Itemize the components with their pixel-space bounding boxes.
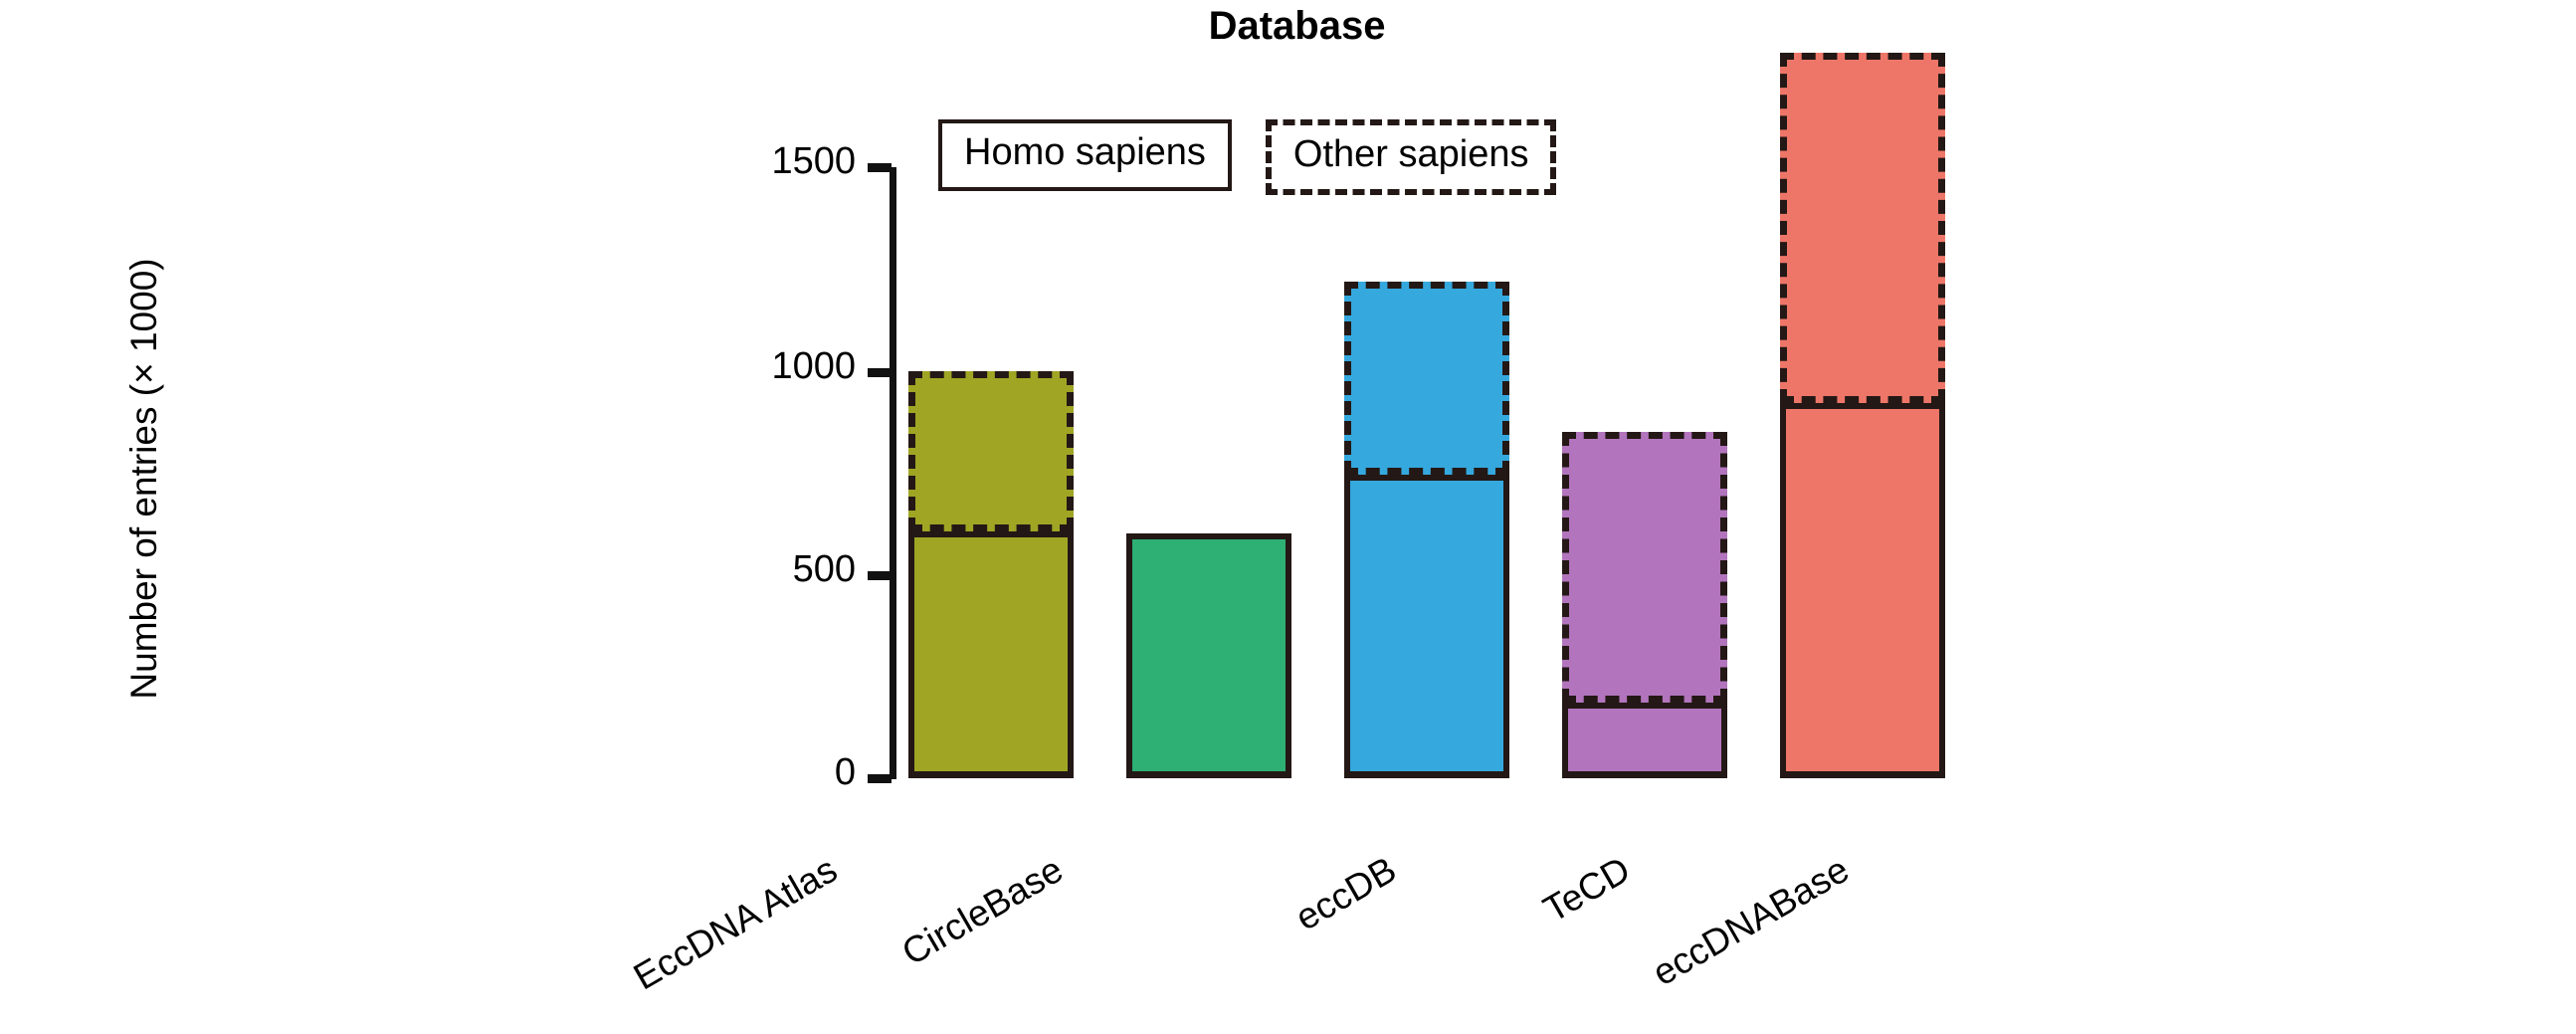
bar-segment-homo-eccdna-atlas[interactable] xyxy=(908,531,1074,778)
chart-figure: Database Number of entries (× 1000) 0 50… xyxy=(0,0,2576,1033)
bar-segment-homo-eccdb[interactable] xyxy=(1344,475,1509,778)
bar-segment-homo-eccdnabase[interactable] xyxy=(1780,403,1945,778)
bar-circlebase[interactable] xyxy=(1126,0,1291,1033)
plot-area xyxy=(0,0,2576,1033)
bar-segment-other-tecd[interactable] xyxy=(1562,432,1727,703)
bar-segment-homo-circlebase[interactable] xyxy=(1126,533,1291,778)
bar-segment-other-eccdna-atlas[interactable] xyxy=(908,371,1074,532)
bar-segment-other-eccdb[interactable] xyxy=(1344,282,1509,475)
bar-segment-homo-tecd[interactable] xyxy=(1562,703,1727,778)
bar-segment-other-eccdnabase[interactable] xyxy=(1780,53,1945,403)
